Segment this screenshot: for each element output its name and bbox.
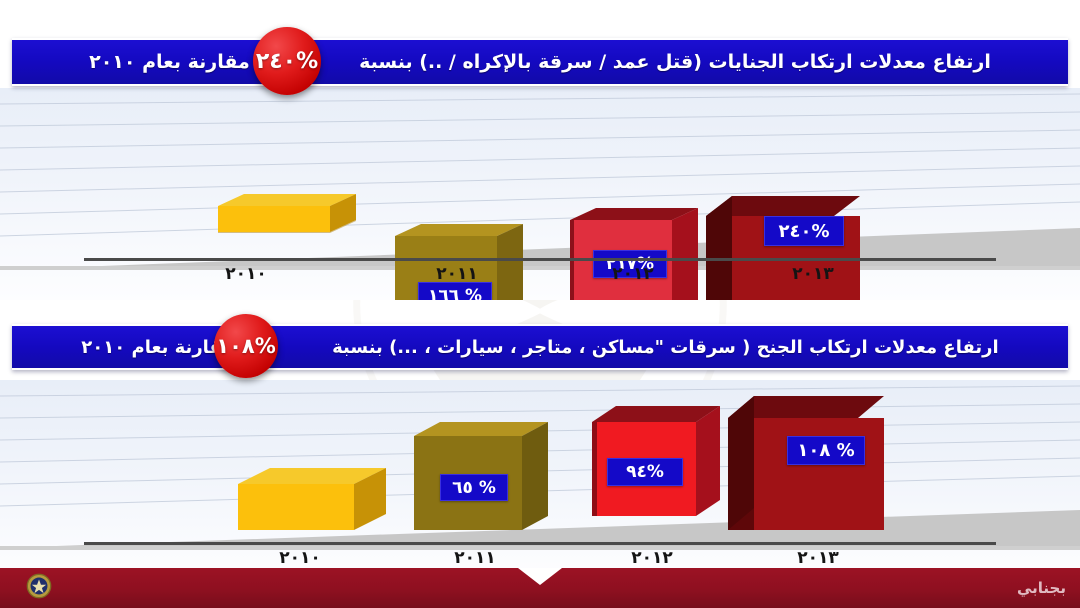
badge-felonies-percent: %٢٤٠	[253, 27, 321, 95]
footer-bar: بجنابي	[0, 568, 1080, 608]
banner-misdemeanours-text-after: مقارنة بعام ٢٠١٠	[81, 337, 233, 358]
year-label-felonies-2011: ٢٠١١	[407, 264, 507, 284]
banner-felonies-text-after: مقارنة بعام ٢٠١٠	[89, 51, 250, 73]
value-chip-misdemeanours-2013: % ١٠٨	[787, 436, 865, 465]
badge-felonies-value: %٢٤٠	[256, 49, 318, 74]
footer-signature: بجنابي	[1017, 579, 1066, 597]
banner-misdemeanours: ارتفاع معدلات ارتكاب الجنح ( سرقات "مساك…	[12, 324, 1068, 370]
year-label-felonies-2010: ٢٠١٠	[196, 264, 296, 284]
banner-felonies-text-before: ارتفاع معدلات ارتكاب الجنايات (قتل عمد /…	[359, 51, 991, 73]
value-chip-misdemeanours-2011: % ٦٥	[440, 474, 508, 501]
year-label-misdemeanours-2010: ٢٠١٠	[250, 548, 350, 568]
banner-felonies: ارتفاع معدلات ارتكاب الجنايات (قتل عمد /…	[12, 38, 1068, 86]
value-chip-felonies-2013: %٢٤٠	[764, 216, 844, 246]
chart-panel-misdemeanours: % ٦٥ %٩٤ % ١٠٨	[0, 380, 1080, 578]
chart-gridlines	[0, 88, 1080, 300]
chart-panel-felonies: % ١٦٦ %٢١٧ %٢٤٠	[0, 88, 1080, 300]
year-label-misdemeanours-2011: ٢٠١١	[425, 548, 525, 568]
year-label-felonies-2013: ٢٠١٣	[763, 264, 863, 284]
bar-felonies-2013	[706, 194, 874, 300]
value-chip-misdemeanours-2012: %٩٤	[607, 458, 683, 486]
bar-felonies-2010	[218, 188, 378, 238]
badge-misdemeanours-percent: %١٠٨	[214, 314, 278, 378]
value-chip-felonies-2011: % ١٦٦	[418, 282, 492, 300]
year-label-misdemeanours-2013: ٢٠١٣	[768, 548, 868, 568]
chart-axis-misdemeanours	[84, 542, 996, 545]
footer-notch	[518, 568, 562, 585]
bar-misdemeanours-2010	[238, 464, 408, 534]
banner-misdemeanours-text-before: ارتفاع معدلات ارتكاب الجنح ( سرقات "مساك…	[332, 337, 999, 358]
bar-misdemeanours-2013	[728, 394, 896, 540]
year-label-felonies-2012: ٢٠١٢	[583, 264, 683, 284]
badge-misdemeanours-value: %١٠٨	[216, 334, 276, 358]
banner-felonies-text: ارتفاع معدلات ارتكاب الجنايات (قتل عمد /…	[89, 51, 991, 73]
infographic-canvas: % ١٦٦ %٢١٧ %٢٤٠ ٢٠١٠ ٢٠١١ ٢٠١٢ ٢٠١٣ ارتف…	[0, 0, 1080, 608]
year-label-misdemeanours-2012: ٢٠١٢	[602, 548, 702, 568]
chart-axis-felonies	[84, 258, 996, 261]
police-star-emblem-icon	[26, 573, 52, 603]
